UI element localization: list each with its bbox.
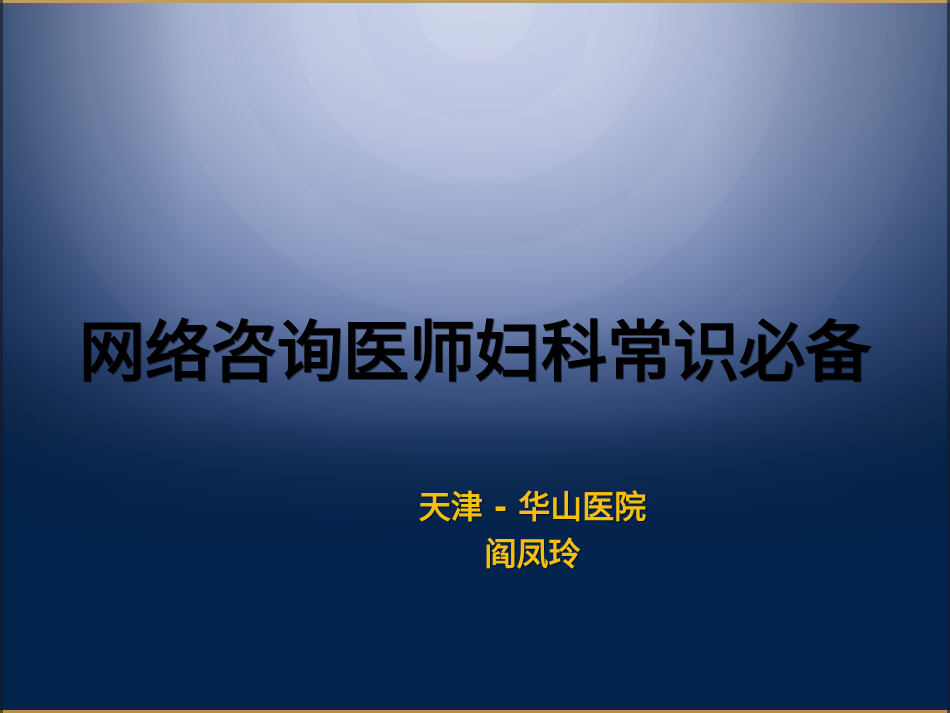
subtitle-organization: 天津 - 华山医院 bbox=[115, 484, 950, 531]
presentation-slide: 网络咨询医师妇科常识必备 天津 - 华山医院 阎凤玲 bbox=[0, 0, 950, 713]
slide-title: 网络咨询医师妇科常识必备 bbox=[0, 319, 950, 386]
slide-border-top bbox=[0, 0, 950, 3]
slide-subtitle: 天津 - 华山医院 阎凤玲 bbox=[0, 484, 950, 577]
subtitle-author: 阎凤玲 bbox=[115, 531, 950, 578]
